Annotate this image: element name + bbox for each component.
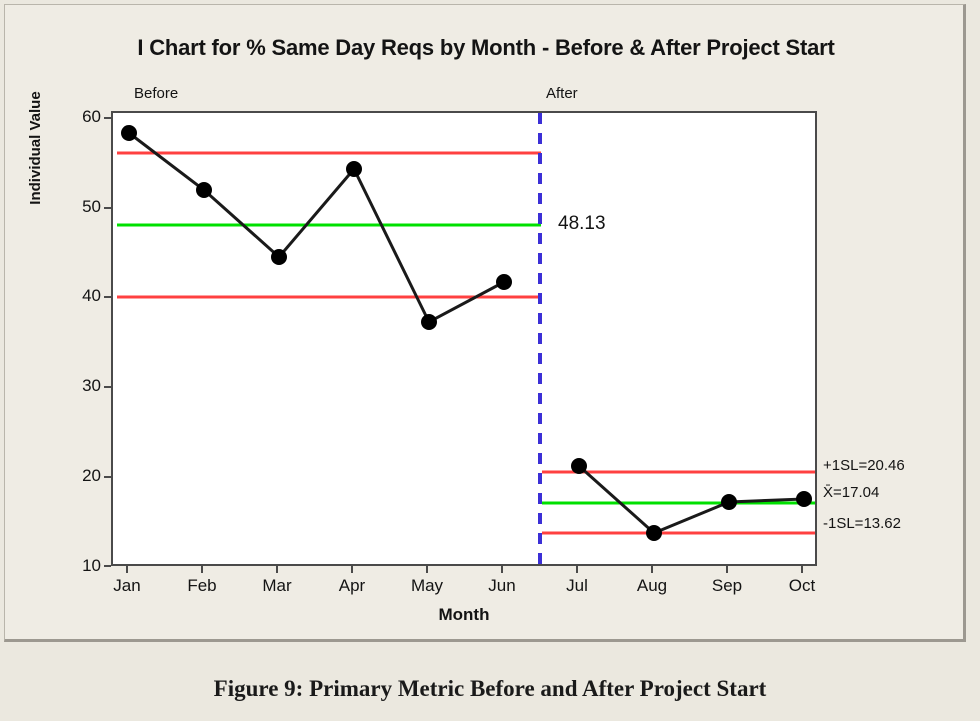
x-tick-mark-oct <box>801 566 803 573</box>
after-series-line <box>579 466 804 533</box>
y-tick-label-20: 20 <box>57 466 101 486</box>
x-tick-mark-feb <box>201 566 203 573</box>
y-axis-title: Individual Value <box>27 38 44 258</box>
chart-title: I Chart for % Same Day Reqs by Month - B… <box>5 35 967 61</box>
after-upper-limit-label: +1SL=20.46 <box>823 457 905 474</box>
y-tick-label-10: 10 <box>57 556 101 576</box>
figure-page: I Chart for % Same Day Reqs by Month - B… <box>0 0 980 721</box>
data-point-aug <box>646 525 662 541</box>
x-tick-mark-aug <box>651 566 653 573</box>
y-tick-label-60: 60 <box>57 107 101 127</box>
x-tick-mark-jul <box>576 566 578 573</box>
before-center-value-label: 48.13 <box>558 213 606 235</box>
stage-label-after: After <box>546 85 578 102</box>
x-tick-mark-mar <box>276 566 278 573</box>
x-tick-mark-may <box>426 566 428 573</box>
y-tick-mark-50 <box>104 207 111 209</box>
after-center-limit-label: X̄=17.04 <box>823 484 879 501</box>
x-tick-label-jul: Jul <box>547 576 607 596</box>
y-tick-label-50: 50 <box>57 197 101 217</box>
data-point-oct <box>796 491 812 507</box>
data-point-may <box>421 314 437 330</box>
data-point-feb <box>196 182 212 198</box>
data-point-jan <box>121 125 137 141</box>
chart-canvas <box>113 113 815 564</box>
y-tick-mark-60 <box>104 117 111 119</box>
y-tick-mark-10 <box>104 565 111 567</box>
stage-label-before: Before <box>134 85 178 102</box>
x-tick-label-mar: Mar <box>247 576 307 596</box>
plot-area <box>111 111 817 566</box>
before-series-line <box>129 133 504 322</box>
data-point-jun <box>496 274 512 290</box>
figure-caption: Figure 9: Primary Metric Before and Afte… <box>0 676 980 702</box>
x-tick-label-jun: Jun <box>472 576 532 596</box>
y-tick-label-30: 30 <box>57 376 101 396</box>
y-tick-mark-30 <box>104 386 111 388</box>
x-tick-label-apr: Apr <box>322 576 382 596</box>
data-point-sep <box>721 494 737 510</box>
y-tick-label-40: 40 <box>57 286 101 306</box>
x-tick-label-aug: Aug <box>622 576 682 596</box>
x-tick-label-sep: Sep <box>697 576 757 596</box>
x-tick-label-jan: Jan <box>97 576 157 596</box>
x-tick-mark-jun <box>501 566 503 573</box>
y-tick-mark-40 <box>104 296 111 298</box>
data-point-apr <box>346 161 362 177</box>
x-tick-label-oct: Oct <box>772 576 832 596</box>
data-point-mar <box>271 249 287 265</box>
x-tick-mark-sep <box>726 566 728 573</box>
y-tick-mark-20 <box>104 476 111 478</box>
x-tick-mark-jan <box>126 566 128 573</box>
x-tick-label-may: May <box>397 576 457 596</box>
x-axis-title: Month <box>111 605 817 625</box>
x-tick-mark-apr <box>351 566 353 573</box>
x-tick-label-feb: Feb <box>172 576 232 596</box>
after-lower-limit-label: -1SL=13.62 <box>823 515 901 532</box>
data-point-jul <box>571 458 587 474</box>
chart-panel: I Chart for % Same Day Reqs by Month - B… <box>4 4 966 642</box>
